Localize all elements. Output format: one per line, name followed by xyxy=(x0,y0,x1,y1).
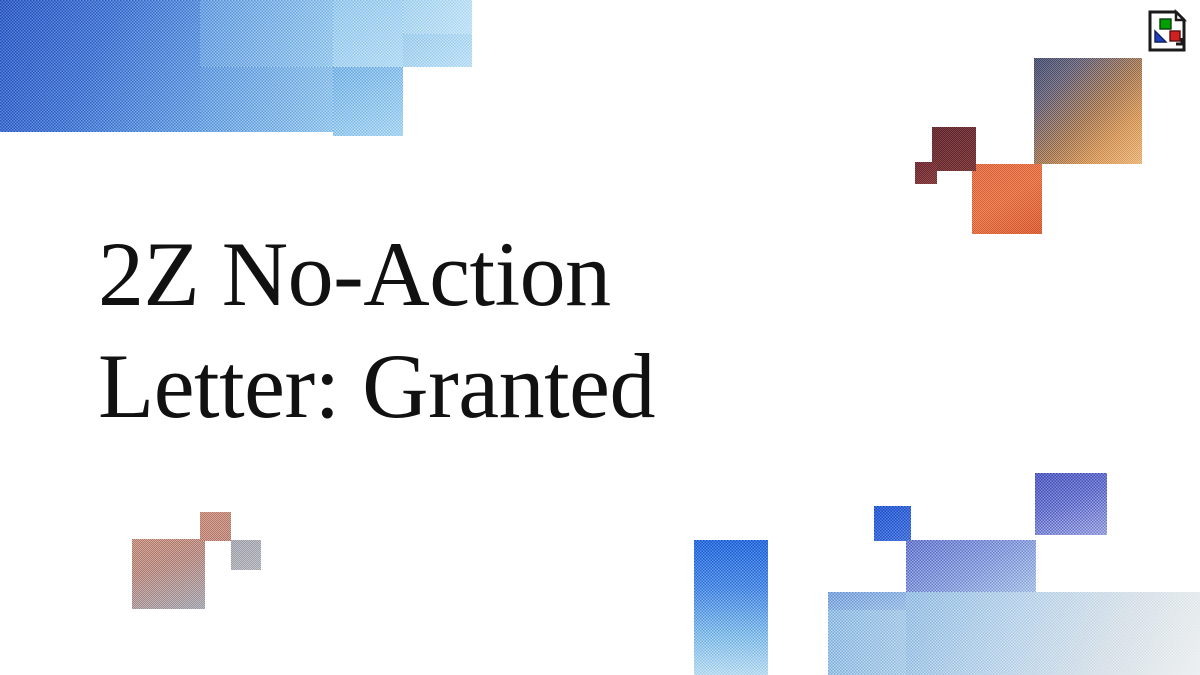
decor-block-tl-fill-left xyxy=(0,0,200,132)
decor-block-tl-fill-right xyxy=(200,0,333,67)
decor-block-tr-large xyxy=(1034,58,1142,164)
slide-canvas: 2Z No-Action Letter: Granted xyxy=(0,0,1200,675)
decor-block-tl-upper-right-a xyxy=(403,0,472,34)
decor-block-br-upper-slab xyxy=(906,540,1035,592)
page-title-line-1: 2Z No-Action xyxy=(98,218,858,330)
decor-block-br-base-band-inner xyxy=(906,592,1200,675)
decor-block-tl-col-b xyxy=(403,34,472,67)
decor-block-br-base-band xyxy=(828,610,1200,675)
decor-block-bl-gray xyxy=(231,540,261,570)
decor-block-bl-salmon xyxy=(200,512,231,541)
decor-block-tr-maroon xyxy=(932,127,976,171)
decor-block-tl-mid-band xyxy=(0,67,333,132)
decor-block-tl-col-a xyxy=(333,0,403,67)
decor-block-br-violet xyxy=(1035,473,1107,535)
page-title: 2Z No-Action Letter: Granted xyxy=(98,218,858,442)
decor-block-br-mid-slab xyxy=(906,540,1036,610)
decor-block-bl-large xyxy=(132,539,205,609)
decor-block-br-small-blue xyxy=(874,506,911,541)
broken-image-placeholder-icon xyxy=(1146,8,1188,54)
decor-block-br-mid-slab-left xyxy=(828,592,906,675)
decor-block-tr-orange xyxy=(972,164,1042,234)
decor-block-tl-lower-square xyxy=(333,67,403,136)
decor-block-tl-fill-right-b xyxy=(200,67,333,132)
decor-block-tr-maroon-small xyxy=(915,162,937,184)
decor-block-br-tall-column xyxy=(694,540,768,675)
decor-block-tl-main xyxy=(0,0,333,67)
page-title-line-2: Letter: Granted xyxy=(98,330,858,442)
